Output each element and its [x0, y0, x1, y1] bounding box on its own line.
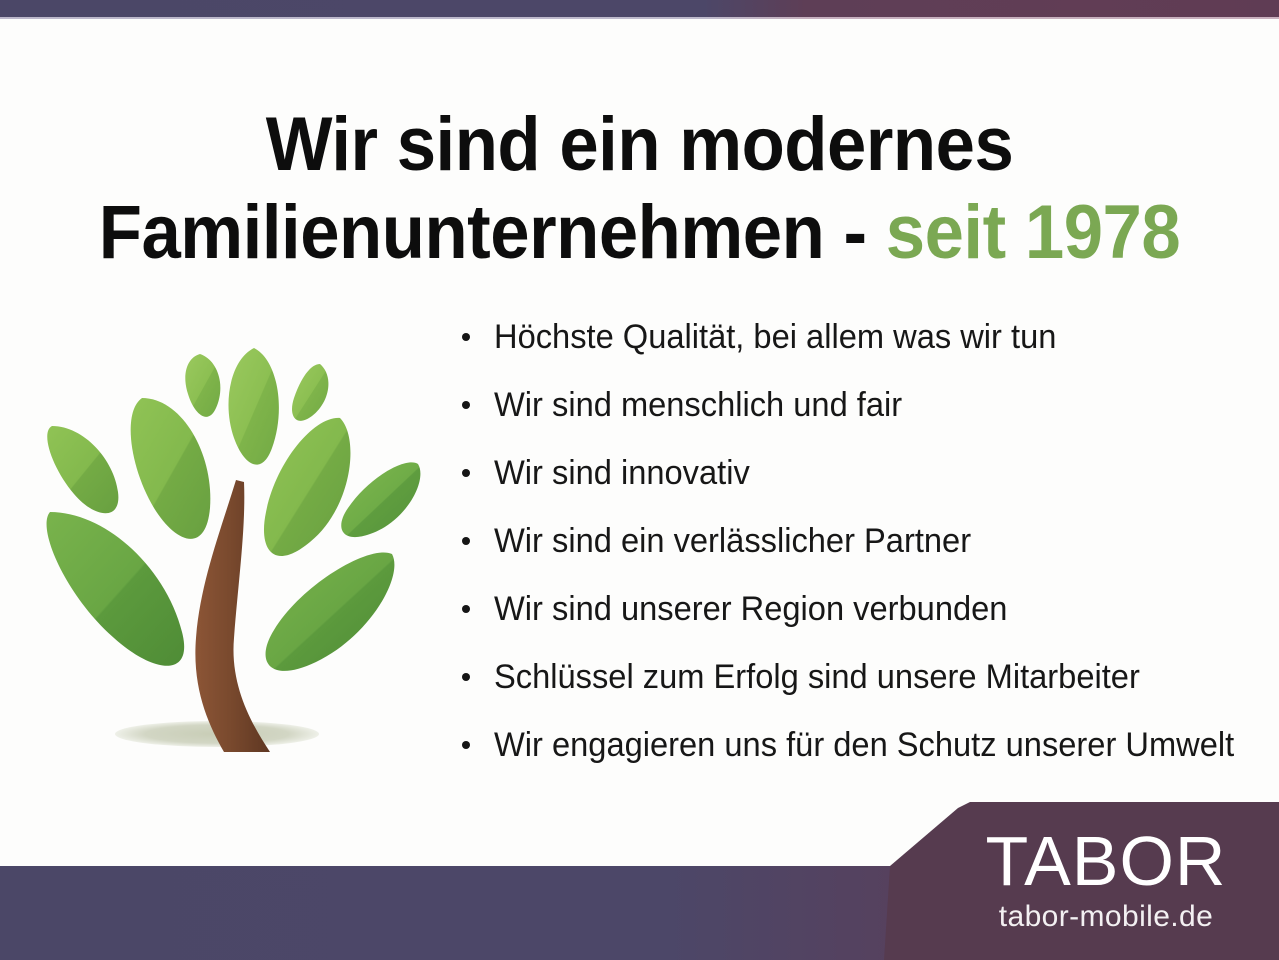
headline-line-2-plain: Familienunternehmen -	[99, 190, 886, 275]
bullet-dot-icon	[462, 469, 470, 477]
list-item: Wir sind unserer Region verbunden	[456, 575, 1268, 643]
list-item-label: Wir sind ein verlässlicher Partner	[494, 507, 971, 575]
leaf-lower-right	[266, 552, 395, 670]
page-title: Wir sind ein modernes Familienunternehme…	[45, 101, 1234, 277]
bullet-dot-icon	[462, 537, 470, 545]
headline-line-2: Familienunternehmen - seit 1978	[45, 189, 1234, 277]
list-item-label: Höchste Qualität, bei allem was wir tun	[494, 303, 1056, 371]
list-item: Wir sind ein verlässlicher Partner	[456, 507, 1268, 575]
list-item: Höchste Qualität, bei allem was wir tun	[456, 303, 1268, 371]
leaf-upper-left	[131, 398, 211, 539]
list-item: Wir sind menschlich und fair	[456, 371, 1268, 439]
brand-wordmark: TABOR	[956, 824, 1256, 898]
top-bar-accent-line	[0, 17, 1279, 19]
bullet-dot-icon	[462, 741, 470, 749]
tabor-logo-block: TABOR tabor-mobile.de	[884, 800, 1279, 960]
tree-illustration	[22, 332, 442, 762]
headline-accent-since-1978: seit 1978	[886, 190, 1180, 275]
leaf-mid-far-left	[47, 426, 118, 513]
leaf-top-small-left	[185, 354, 220, 417]
leaf-upper-right	[264, 418, 350, 556]
list-item-label: Wir sind innovativ	[494, 439, 750, 507]
list-item: Wir sind innovativ	[456, 439, 1268, 507]
list-item: Schlüssel zum Erfolg sind unsere Mitarbe…	[456, 643, 1268, 711]
list-item: Wir engagieren uns für den Schutz unsere…	[456, 711, 1268, 779]
list-item-label: Schlüssel zum Erfolg sind unsere Mitarbe…	[494, 643, 1140, 711]
list-item-label: Wir sind menschlich und fair	[494, 371, 902, 439]
leaf-top-center	[228, 348, 278, 465]
brand-domain: tabor-mobile.de	[956, 900, 1256, 934]
headline-line-1: Wir sind ein modernes	[45, 101, 1234, 189]
list-item-label: Wir sind unserer Region verbunden	[494, 575, 1007, 643]
top-decorative-bar	[0, 0, 1279, 17]
slide-canvas: Wir sind ein modernes Familienunternehme…	[0, 0, 1279, 960]
bullet-dot-icon	[462, 605, 470, 613]
value-bullet-list: Höchste Qualität, bei allem was wir tun …	[456, 303, 1268, 779]
bullet-dot-icon	[462, 333, 470, 341]
leaf-lower-left	[47, 512, 185, 666]
list-item-label: Wir engagieren uns für den Schutz unsere…	[494, 711, 1234, 779]
leaf-mid-far-right	[341, 462, 420, 537]
bullet-dot-icon	[462, 673, 470, 681]
bullet-dot-icon	[462, 401, 470, 409]
leaf-top-small-right	[292, 364, 328, 421]
